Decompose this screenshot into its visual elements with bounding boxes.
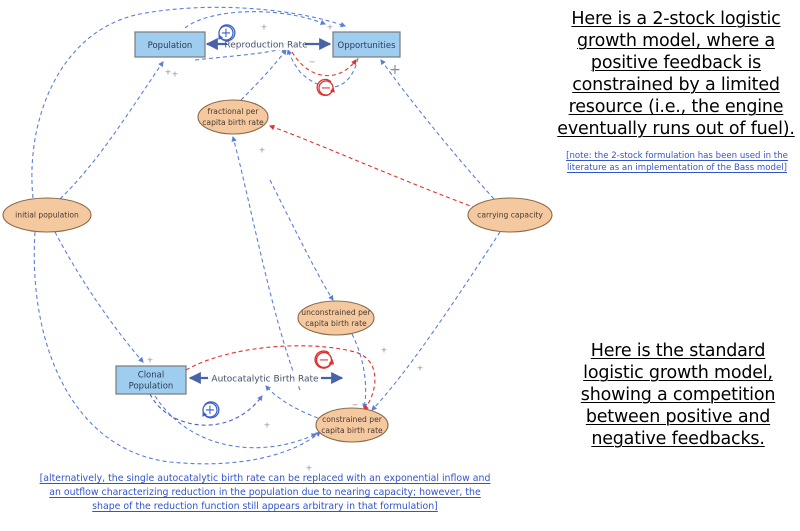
- polarity-marks: + + + + − + + + + + − + +: [147, 23, 424, 473]
- polarity-mark-3: +: [165, 68, 172, 77]
- annotation-bottom-right: Here is the standard logistic growth mod…: [572, 340, 784, 450]
- aux-constrained-per-capita-birth-rate[interactable]: constrained per capita birth rate: [316, 408, 388, 442]
- aux-constrained-rate-label-line1: constrained per: [322, 415, 383, 424]
- aux-carrying-capacity[interactable]: carrying capacity: [468, 198, 552, 232]
- stock-opportunities-label: Opportunities: [338, 41, 397, 51]
- loop-reinforcing-bottom: +: [203, 402, 219, 418]
- annotation-bottom-left: [alternatively, the single autocatalytic…: [34, 472, 496, 514]
- stock-clonal-population-label-line2: Population: [129, 382, 174, 392]
- aux-constrained-rate-label-line2: capita birth rate: [321, 426, 383, 435]
- loop-balancing-bottom-sign: −: [319, 353, 330, 368]
- stock-population-label: Population: [148, 41, 193, 51]
- loop-reinforcing-top: +: [219, 25, 235, 41]
- link-initial-population-to-clonal-population: [55, 232, 143, 362]
- aux-fractional-rate-label-line1: fractional per: [208, 107, 260, 116]
- loop-balancing-top: −: [317, 79, 333, 96]
- link-fractional-rate-to-reproduction-rate: [241, 50, 286, 100]
- stock-opportunities[interactable]: Opportunities: [333, 32, 400, 57]
- loop-reinforcing-bottom-sign: +: [205, 403, 216, 418]
- causal-links-top: [32, 7, 494, 390]
- loop-balancing-bottom: −: [315, 351, 332, 368]
- polarity-mark-5: +: [259, 146, 266, 155]
- aux-unconstrained-rate-label-line2: capita birth rate: [305, 319, 367, 328]
- loop-reinforcing-top-sign: +: [221, 26, 232, 41]
- polarity-mark-8: +: [417, 364, 424, 373]
- link-carrying-capacity-to-constrained-rate: [372, 232, 500, 410]
- polarity-mark-10: −: [352, 401, 359, 410]
- aux-initial-population-label: initial population: [15, 211, 79, 220]
- polarity-mark-2: +: [327, 23, 334, 32]
- polarity-mark-4: −: [309, 58, 316, 67]
- aux-fractional-rate-label-line2: capita birth rate: [202, 118, 264, 127]
- flow-autocatalytic-birth-rate-label: Autocatalytic Birth Rate: [211, 375, 319, 385]
- aux-carrying-capacity-label: carrying capacity: [477, 211, 543, 220]
- link-carrying-capacity-to-opportunities: [381, 60, 494, 199]
- diagram-canvas: Population Opportunities Clonal Populati…: [0, 0, 800, 531]
- stock-clonal-population[interactable]: Clonal Population: [116, 366, 186, 394]
- polarity-mark-7: +: [381, 346, 388, 355]
- link-initial-population-to-constrained-rate: [34, 232, 320, 464]
- link-unconstrained-rate-to-constrained-rate: [352, 334, 366, 408]
- loop-balancing-top-sign: −: [321, 81, 332, 96]
- polarity-mark-0: +: [389, 62, 401, 78]
- polarity-mark-6: +: [147, 356, 154, 365]
- link-carrying-capacity-to-fractional-rate: [270, 126, 476, 208]
- polarity-mark-12: +: [172, 70, 179, 79]
- aux-unconstrained-rate-label-line1: unconstrained per: [301, 308, 371, 317]
- stock-population[interactable]: Population: [135, 32, 205, 57]
- link-clonal-population-to-constrained-rate-2: [155, 396, 316, 448]
- link-initial-population-to-population: [60, 62, 163, 199]
- aux-unconstrained-per-capita-birth-rate[interactable]: unconstrained per capita birth rate: [298, 301, 374, 335]
- stock-clonal-population-label-line1: Clonal: [138, 371, 164, 381]
- link-upper-to-unconstrained-rate: [270, 180, 333, 300]
- polarity-mark-9: +: [264, 421, 271, 430]
- annotation-top-main: Here is a 2-stock logistic growth model,…: [556, 8, 796, 140]
- flow-autocatalytic-birth-rate[interactable]: Autocatalytic Birth Rate: [190, 372, 342, 385]
- flow-reproduction-rate-label: Reproduction Rate: [224, 41, 308, 51]
- link-constrained-rate-to-autocatalytic-rate: [266, 386, 318, 418]
- link-population-to-opportunities: [185, 12, 325, 28]
- annotation-top-note: [note: the 2-stock formulation has been …: [566, 150, 788, 175]
- aux-initial-population[interactable]: initial population: [3, 198, 91, 232]
- link-lower-to-fractional-rate: [233, 137, 300, 390]
- causal-links-top-negative: [270, 52, 476, 208]
- aux-fractional-per-capita-birth-rate[interactable]: fractional per capita birth rate: [198, 100, 268, 134]
- polarity-mark-1: +: [261, 23, 268, 32]
